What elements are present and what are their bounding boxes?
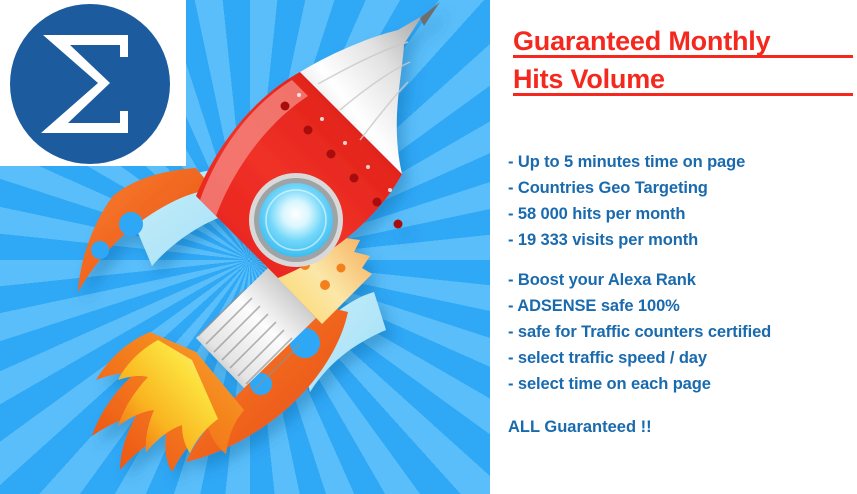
offer-details-panel: Guaranteed Monthly Hits Volume - Up to 5… — [490, 0, 857, 494]
list-item: - select traffic speed / day — [508, 345, 853, 371]
list-item: - Up to 5 minutes time on page — [508, 149, 853, 175]
feature-list: - Up to 5 minutes time on page - Countri… — [508, 149, 853, 397]
list-item: - select time on each page — [508, 371, 853, 397]
list-item: - safe for Traffic counters certified — [508, 319, 853, 345]
rocket-graphic-panel — [0, 0, 490, 494]
fin-hole-upper-large — [119, 212, 143, 236]
list-item: - Countries Geo Targeting — [508, 175, 853, 201]
headline-line-1: Guaranteed Monthly — [513, 22, 853, 60]
promo-banner: Guaranteed Monthly Hits Volume - Up to 5… — [0, 0, 857, 494]
page-title: Guaranteed Monthly Hits Volume — [513, 22, 853, 98]
fin-hole-upper-small — [91, 241, 109, 259]
list-item: - 58 000 hits per month — [508, 201, 853, 227]
rocket-window — [259, 183, 333, 257]
list-item: - Boost your Alexa Rank — [508, 267, 853, 293]
sigma-icon — [10, 4, 170, 164]
rocket-nose-tip — [420, 2, 440, 26]
brand-logo-badge — [0, 0, 186, 166]
guarantee-note: ALL Guaranteed !! — [508, 418, 652, 437]
list-item: - 19 333 visits per month — [508, 227, 853, 253]
headline-line-2: Hits Volume — [513, 60, 853, 98]
list-item: - ADSENSE safe 100% — [508, 293, 853, 319]
